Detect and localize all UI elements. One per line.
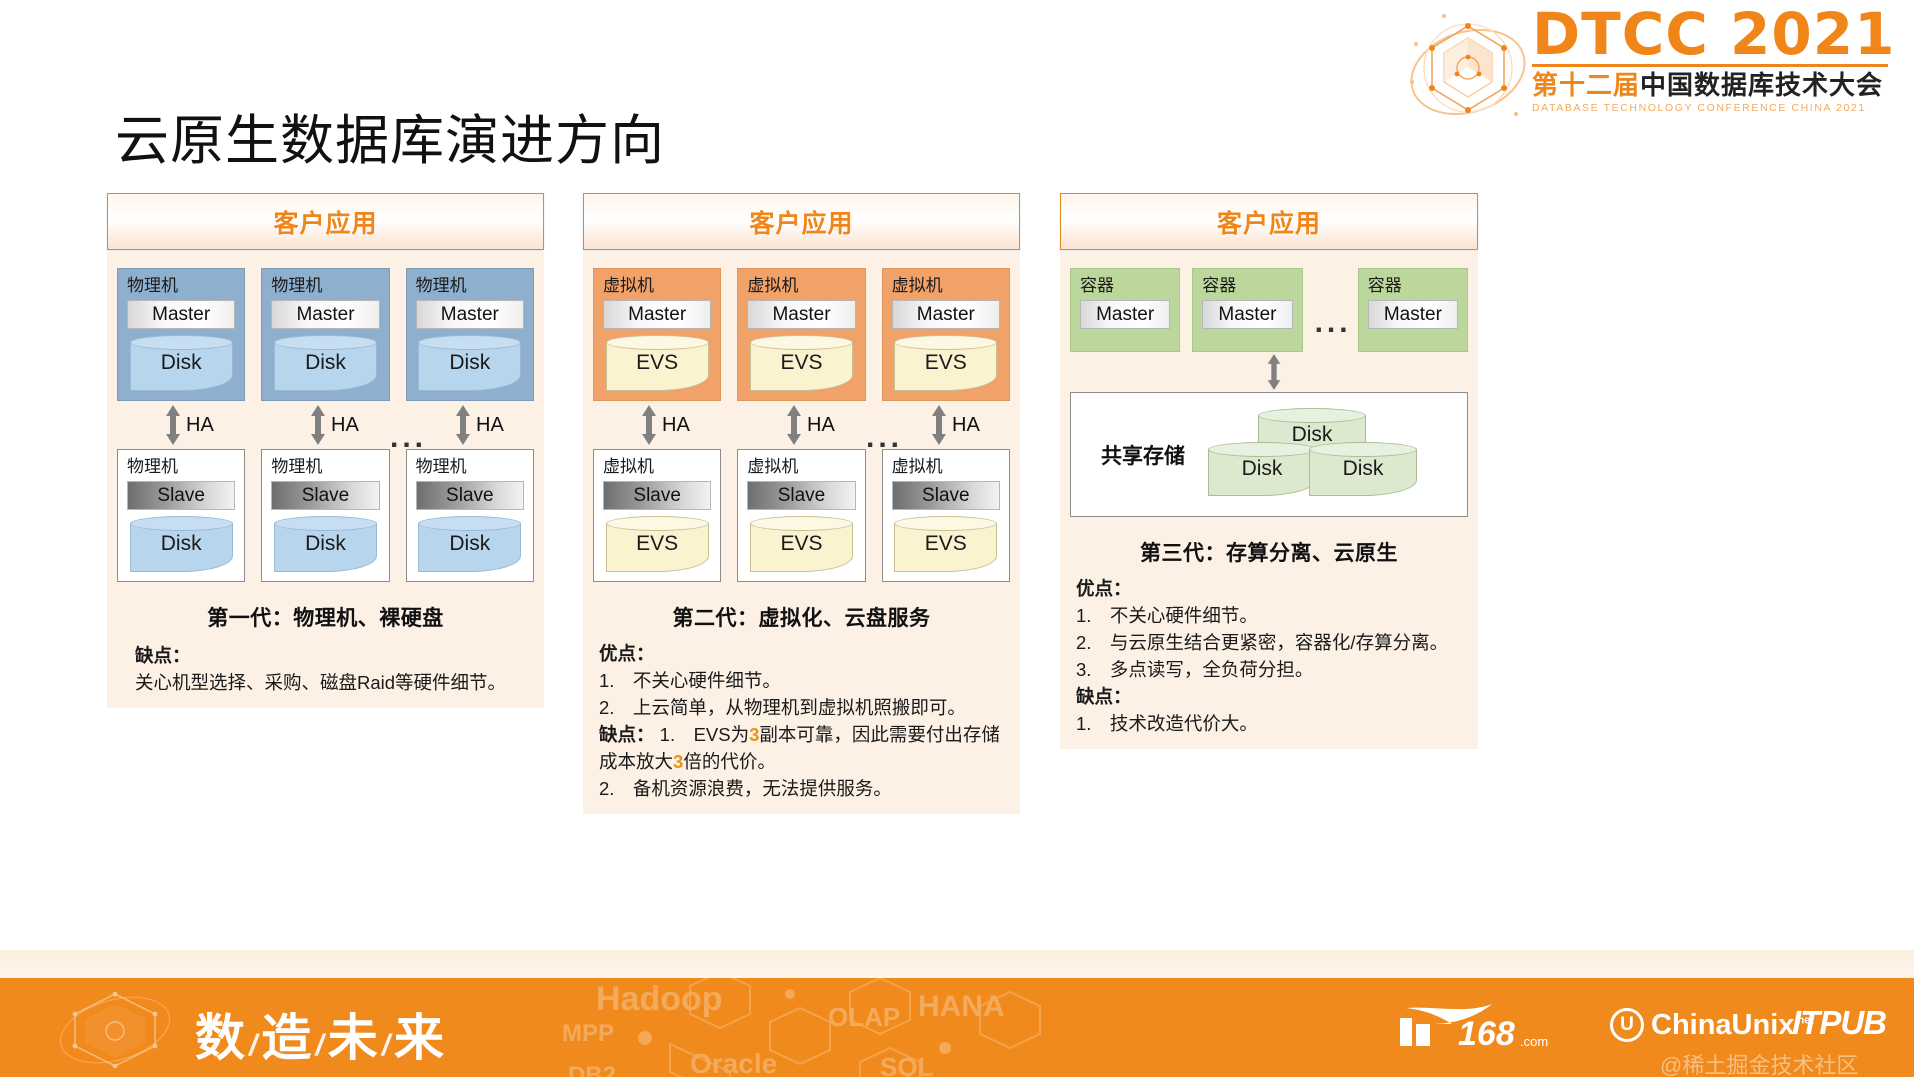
storage-label: EVS (636, 532, 678, 556)
node-label: 虚拟机 (747, 276, 855, 296)
pros-heading-3: 优点： (1076, 578, 1132, 599)
slave-node-row-1: 物理机 Slave Disk 物理机 Slave Disk 物理机 Slave (117, 449, 534, 582)
ha-indicator: HA (786, 405, 835, 445)
cons-heading-2: 缺点： (599, 724, 655, 745)
ha-double-arrow-icon (641, 405, 657, 445)
node-label: 物理机 (271, 457, 379, 477)
ha-label: HA (952, 414, 980, 437)
cons-text-c: 倍的代价。 (683, 751, 776, 772)
storage-label: Disk (305, 532, 346, 556)
chinaunix-logo[interactable]: U ChinaUnix.net (1610, 1008, 1814, 1042)
storage-cylinder-disk: Disk (130, 516, 233, 572)
ha-label: HA (331, 414, 359, 437)
footer-tag-sql: SQL (880, 1052, 933, 1077)
node-label: 物理机 (271, 276, 379, 296)
role-chip-master: Master (892, 300, 1000, 329)
generation-title-2: 第二代：虚拟化、云盘服务 (593, 602, 1010, 632)
ha-double-arrow-icon (786, 405, 802, 445)
node-slave-2: 虚拟机 Slave EVS (737, 449, 865, 582)
generation-2-column: 客户应用 虚拟机 Master EVS 虚拟机 Master EVS (583, 193, 1020, 814)
node-container-3: 容器 Master (1358, 268, 1468, 352)
footer-top-shadow (0, 950, 1914, 978)
shared-storage-box: 共享存储 Disk Disk Disk (1070, 392, 1468, 517)
generation-1-column: 客户应用 物理机 Master Disk 物理机 Master Disk (107, 193, 544, 708)
storage-cylinder-disk: Disk (1309, 442, 1417, 496)
storage-cylinder-evs: EVS (750, 335, 853, 391)
master-node-row-2: 虚拟机 Master EVS 虚拟机 Master EVS 虚拟机 Master (593, 268, 1010, 401)
storage-cylinder-evs: EVS (750, 516, 853, 572)
pros-item: 1. 不关心硬件细节。 (599, 667, 1010, 694)
storage-label: Disk (449, 532, 490, 556)
generation-2-notes: 优点： 1. 不关心硬件细节。 2. 上云简单，从物理机到虚拟机照搬即可。 缺点… (593, 640, 1010, 802)
node-master-3: 虚拟机 Master EVS (882, 268, 1010, 401)
storage-cylinder-disk: Disk (130, 335, 233, 391)
slogan-char-3: 未 (328, 1010, 380, 1066)
storage-label: EVS (780, 532, 822, 556)
footer-tag-hana: HANA (918, 990, 1005, 1024)
role-chip-master: Master (416, 300, 524, 329)
node-master-3: 物理机 Master Disk (406, 268, 534, 401)
node-container-2: 容器 Master (1192, 268, 1302, 352)
node-label: 虚拟机 (603, 276, 711, 296)
storage-label: Disk (1292, 423, 1333, 447)
node-label: 物理机 (416, 276, 524, 296)
ha-indicator: HA (931, 405, 980, 445)
cons-item-rich: 1. EVS为3副本可靠，因此需要付出存储成本放大3倍的代价。 (599, 724, 1000, 772)
client-app-bar-3: 客户应用 (1060, 193, 1478, 250)
storage-cylinder-evs: EVS (606, 335, 709, 391)
pros-item: 1. 不关心硬件细节。 (1076, 602, 1468, 629)
storage-label: Disk (1343, 457, 1384, 481)
ha-double-arrow-icon (931, 405, 947, 445)
ha-indicator: HA (641, 405, 690, 445)
it168-logo[interactable]: 168 .com (1396, 1000, 1556, 1052)
footer-tag-olap: OLAP (828, 1002, 900, 1033)
storage-link-arrow-row (1070, 352, 1468, 392)
storage-cylinder-evs: EVS (894, 516, 997, 572)
logo-chinese-text: 第十二届中国数据库技术大会 (1532, 70, 1896, 100)
node-slave-2: 物理机 Slave Disk (261, 449, 389, 582)
it168-text: 168 (1458, 1015, 1515, 1052)
ha-indicator: HA (310, 405, 359, 445)
node-slave-3: 虚拟机 Slave EVS (882, 449, 1010, 582)
storage-cylinder-disk: Disk (418, 335, 521, 391)
node-label: 物理机 (127, 276, 235, 296)
node-slave-1: 物理机 Slave Disk (117, 449, 245, 582)
ha-arrow-row-2: HA HA ... HA (593, 401, 1010, 449)
role-chip-slave: Slave (747, 481, 855, 510)
ellipsis-indicator: ... (1315, 308, 1352, 338)
generation-1-notes: 缺点： 关心机型选择、采购、磁盘Raid等硬件细节。 (117, 642, 534, 696)
storage-double-arrow-icon (1266, 354, 1282, 390)
node-label: 物理机 (127, 457, 235, 477)
storage-label: Disk (1242, 457, 1283, 481)
role-chip-master: Master (747, 300, 855, 329)
node-label: 容器 (1202, 276, 1292, 296)
client-app-bar-1: 客户应用 (107, 193, 544, 250)
slogan-char-1: 数 (195, 1010, 247, 1066)
pros-item: 2. 与云原生结合更紧密，容器化/存算分离。 (1076, 629, 1468, 656)
role-chip-master: Master (1368, 300, 1458, 329)
cons-number-2: 3 (673, 751, 683, 772)
node-master-2: 物理机 Master Disk (261, 268, 389, 401)
generation-title-1: 第一代：物理机、裸硬盘 (117, 602, 534, 632)
container-node-row: 容器 Master 容器 Master ... 容器 Master (1070, 268, 1468, 352)
pros-item: 3. 多点读写，全负荷分担。 (1076, 656, 1468, 683)
storage-label: Disk (161, 532, 202, 556)
node-label: 虚拟机 (892, 457, 1000, 477)
cons-text-a: 1. EVS为 (660, 724, 749, 745)
client-app-bar-2: 客户应用 (583, 193, 1020, 250)
generation-3-column: 客户应用 容器 Master 容器 Master ... 容器 Master (1060, 193, 1478, 749)
role-chip-slave: Slave (127, 481, 235, 510)
cons-heading-3: 缺点： (1076, 686, 1132, 707)
logo-cn-prefix: 第十二届 (1532, 70, 1640, 100)
footer-tag-oracle: Oracle (690, 1048, 777, 1077)
footer-tag-hadoop: Hadoop (596, 980, 723, 1019)
itpub-logo[interactable]: ITPUB (1792, 1004, 1886, 1042)
ha-arrow-row-1: HA HA ... HA (117, 401, 534, 449)
role-chip-master: Master (1202, 300, 1292, 329)
role-chip-slave: Slave (416, 481, 524, 510)
logo-main-text: DTCC 2021 (1532, 2, 1896, 66)
ha-indicator: HA (165, 405, 214, 445)
node-label: 虚拟机 (603, 457, 711, 477)
storage-cylinder-evs: EVS (894, 335, 997, 391)
node-label: 物理机 (416, 457, 524, 477)
cons-number-1: 3 (749, 724, 759, 745)
slave-node-row-2: 虚拟机 Slave EVS 虚拟机 Slave EVS 虚拟机 Slave (593, 449, 1010, 582)
slogan-sep-2: / (313, 1029, 327, 1062)
node-master-1: 物理机 Master Disk (117, 268, 245, 401)
footer-bar: Hadoop OLAP HANA MPP DB2 Oracle SQL 数/造/… (0, 978, 1914, 1077)
footer-tag-mpp: MPP (562, 1020, 614, 1048)
node-master-2: 虚拟机 Master EVS (737, 268, 865, 401)
storage-label: EVS (925, 351, 967, 375)
slogan-char-4: 来 (394, 1010, 446, 1066)
storage-cylinder-disk: Disk (274, 335, 377, 391)
chinaunix-text: ChinaUnix.net (1651, 1009, 1814, 1042)
ha-indicator: HA (455, 405, 504, 445)
storage-label: EVS (925, 532, 967, 556)
footer-slogan: 数/造/未/来 (195, 998, 446, 1070)
ha-double-arrow-icon (455, 405, 471, 445)
client-app-label-3: 客户应用 (1217, 204, 1321, 240)
cons-heading-1: 缺点： (135, 645, 191, 666)
client-app-label-2: 客户应用 (749, 204, 853, 240)
storage-cylinder-disk: Disk (274, 516, 377, 572)
role-chip-master: Master (127, 300, 235, 329)
logo-cn-rest: 中国数据库技术大会 (1640, 70, 1883, 100)
dtcc-logo: DTCC 2021 第十二届中国数据库技术大会 DATABASE TECHNOL… (1396, 2, 1896, 132)
role-chip-slave: Slave (892, 481, 1000, 510)
cons-item: 2. 备机资源浪费，无法提供服务。 (599, 775, 1010, 802)
storage-cylinder-disk: Disk (418, 516, 521, 572)
storage-cylinder-evs: EVS (606, 516, 709, 572)
chinaunix-mark-icon: U (1610, 1008, 1644, 1042)
storage-cylinder-disk: Disk (1208, 442, 1316, 496)
pros-heading-2: 优点： (599, 643, 655, 664)
master-node-row-1: 物理机 Master Disk 物理机 Master Disk 物理机 Mast… (117, 268, 534, 401)
client-app-label-1: 客户应用 (273, 204, 377, 240)
pros-item: 2. 上云简单，从物理机到虚拟机照搬即可。 (599, 694, 1010, 721)
storage-label: Disk (305, 351, 346, 375)
it168-tld: .com (1520, 1034, 1548, 1049)
storage-label: Disk (161, 351, 202, 375)
chinaunix-name: ChinaUnix (1651, 1009, 1794, 1041)
ha-double-arrow-icon (310, 405, 326, 445)
page-title: 云原生数据库演进方向 (115, 96, 665, 175)
shared-storage-label: 共享存储 (1101, 440, 1185, 470)
ha-label: HA (807, 414, 835, 437)
role-chip-slave: Slave (271, 481, 379, 510)
role-chip-master: Master (271, 300, 379, 329)
footer-tag-db2: DB2 (568, 1062, 616, 1077)
slogan-sep-3: / (380, 1029, 394, 1062)
ha-label: HA (662, 414, 690, 437)
ha-double-arrow-icon (165, 405, 181, 445)
node-slave-1: 虚拟机 Slave EVS (593, 449, 721, 582)
ha-label: HA (186, 414, 214, 437)
node-label: 虚拟机 (892, 276, 1000, 296)
role-chip-slave: Slave (603, 481, 711, 510)
storage-label: EVS (636, 351, 678, 375)
node-slave-3: 物理机 Slave Disk (406, 449, 534, 582)
generation-3-notes: 优点： 1. 不关心硬件细节。 2. 与云原生结合更紧密，容器化/存算分离。 3… (1070, 575, 1468, 737)
dtcc-cube-icon (1404, 8, 1532, 130)
watermark-text: @稀土掘金技术社区 (1660, 1048, 1858, 1077)
role-chip-master: Master (1080, 300, 1170, 329)
ha-label: HA (476, 414, 504, 437)
footer-hex-icon (55, 988, 175, 1068)
node-label: 容器 (1368, 276, 1458, 296)
footer-background-tags: Hadoop OLAP HANA MPP DB2 Oracle SQL (590, 978, 1110, 1077)
generation-title-3: 第三代：存算分离、云原生 (1070, 537, 1468, 567)
node-master-1: 虚拟机 Master EVS (593, 268, 721, 401)
logo-english-text: DATABASE TECHNOLOGY CONFERENCE CHINA 202… (1532, 102, 1896, 114)
storage-label: EVS (780, 351, 822, 375)
slogan-char-2: 造 (261, 1010, 313, 1066)
cons-item: 1. 技术改造代价大。 (1076, 710, 1468, 737)
cons-item: 关心机型选择、采购、磁盘Raid等硬件细节。 (135, 669, 534, 696)
shared-disk-cluster: Disk Disk Disk (1203, 400, 1433, 510)
slogan-sep-1: / (247, 1029, 261, 1062)
node-label: 虚拟机 (747, 457, 855, 477)
storage-label: Disk (449, 351, 490, 375)
role-chip-master: Master (603, 300, 711, 329)
node-container-1: 容器 Master (1070, 268, 1180, 352)
node-label: 容器 (1080, 276, 1170, 296)
